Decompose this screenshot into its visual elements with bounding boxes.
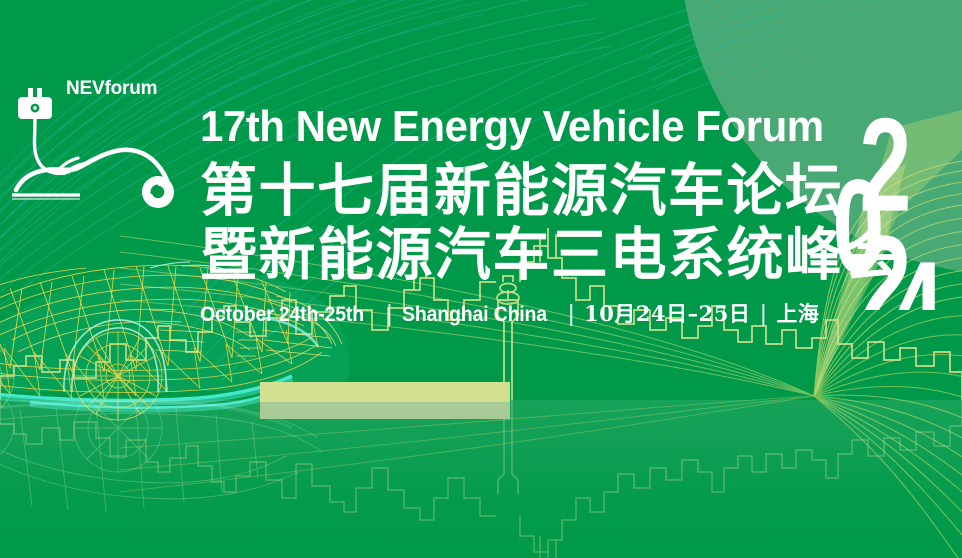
logo-wordmark-secondary: forum [104,78,157,99]
accent-bar-reflection [260,402,510,419]
water-reflection-band [0,400,962,558]
meta-date-chinese: 10月24日–25日 [584,298,750,328]
meta-separator-1: | [376,300,402,327]
title-chinese-line-2: 暨新能源汽车三电系统峰会 [200,224,850,286]
meta-separator-3: | [750,300,776,327]
headline-block: 17th New Energy Vehicle Forum 第十七届新能源汽车论… [200,104,850,328]
nev-forum-banner: NEVforum 2 0 2 4 17th New Energy Vehicle… [0,0,962,558]
logo-wordmark: NEVforum [66,78,157,100]
title-chinese-line-1: 第十七届新能源汽车论坛 [200,160,850,222]
logo-wordmark-primary: NEV [66,78,104,99]
meta-location-english: Shanghai China [402,303,547,327]
meta-date-english: October 24th-25th [200,303,364,327]
title-english: 17th New Energy Vehicle Forum [200,104,821,150]
accent-bar [260,382,510,402]
meta-location-chinese: 上海 [776,298,819,328]
meta-separator-2: | [558,300,584,327]
event-meta-line: October 24th-25th | Shanghai China | 10月… [200,298,850,328]
